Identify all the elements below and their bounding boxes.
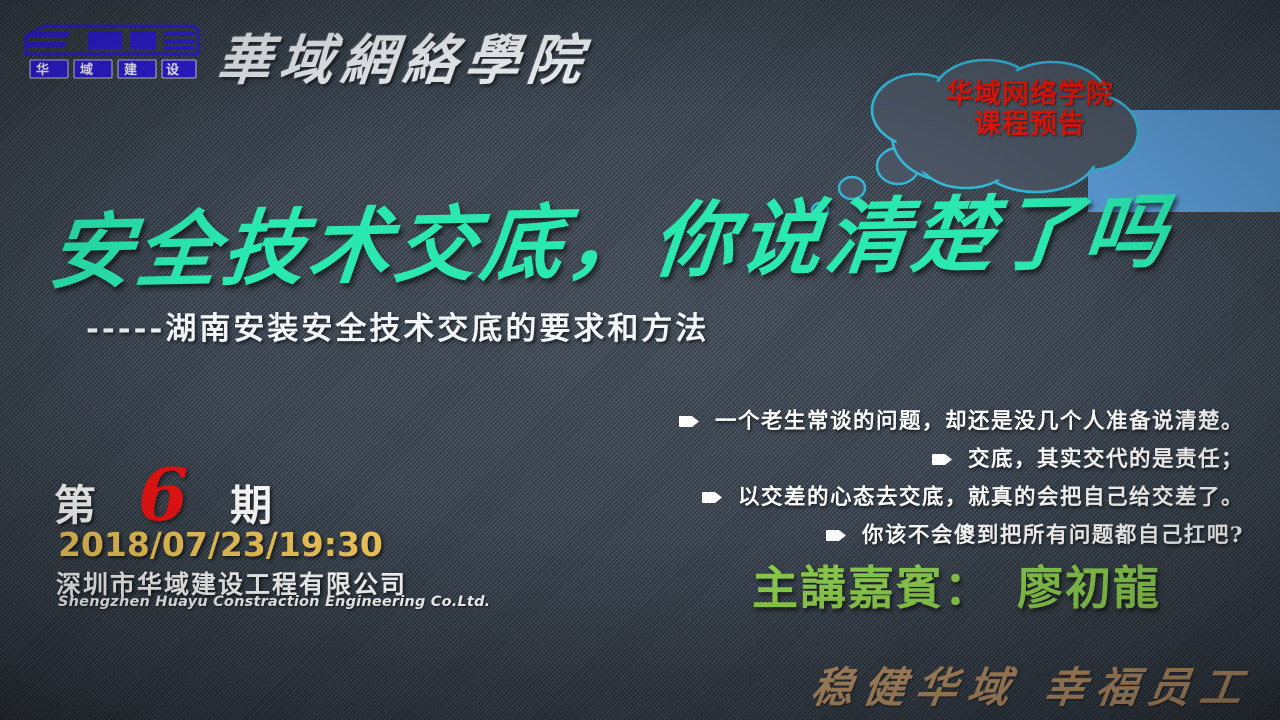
huayu-construction-logo: 华 域 建 设 xyxy=(22,22,202,84)
arrow-bullet-icon xyxy=(932,451,952,464)
list-item-label: 你该不会傻到把所有问题都自己扛吧? xyxy=(862,518,1244,549)
arrow-bullet-icon xyxy=(679,413,699,426)
page-subtitle: -----湖南安装安全技术交底的要求和方法 xyxy=(86,303,709,348)
list-item: 你该不会傻到把所有问题都自己扛吧? xyxy=(644,518,1244,549)
svg-text:域: 域 xyxy=(80,62,93,78)
speaker-line: 主講嘉賓： 廖初龍 xyxy=(752,552,1161,618)
page-title: 安全技术交底，你说清楚了吗 xyxy=(45,166,1100,305)
svg-text:华: 华 xyxy=(36,62,49,78)
cloud-line-2: 课程预告 xyxy=(915,110,1145,140)
list-item-label: 一个老生常谈的问题，却还是没几个人准备说清楚。 xyxy=(715,404,1244,435)
list-item-label: 交底，其实交代的是责任； xyxy=(968,442,1244,473)
arrow-bullet-icon xyxy=(702,489,722,502)
list-item: 一个老生常谈的问题，却还是没几个人准备说清楚。 xyxy=(644,404,1244,435)
brand-title: 華域網絡學院 xyxy=(214,16,594,95)
cloud-announcement-text: 华域网络学院 课程预告 xyxy=(915,80,1145,140)
company-name-english: Shengzhen Huayu Constraction Engineering… xyxy=(58,594,490,610)
cloud-line-1: 华域网络学院 xyxy=(915,80,1145,110)
svg-text:建: 建 xyxy=(124,62,137,78)
issue-suffix: 期 xyxy=(230,481,272,530)
list-item: 以交差的心态去交底，就真的会把自己给交差了。 xyxy=(644,480,1244,511)
course-preview-poster: 华 域 建 设 華域網絡學院 xyxy=(0,0,1280,720)
svg-text:设: 设 xyxy=(166,63,180,78)
arrow-bullet-icon xyxy=(826,527,846,540)
list-item-label: 以交差的心态去交底，就真的会把自己给交差了。 xyxy=(738,480,1244,511)
broadcast-datetime: 2018/07/23/19:30 xyxy=(58,525,383,564)
issue-prefix: 第 xyxy=(54,481,96,530)
key-points-list: 一个老生常谈的问题，却还是没几个人准备说清楚。 交底，其实交代的是责任； 以交差… xyxy=(644,404,1244,556)
company-slogan: 稳健华域 幸福员工 xyxy=(808,654,1257,715)
list-item: 交底，其实交代的是责任； xyxy=(644,442,1244,473)
